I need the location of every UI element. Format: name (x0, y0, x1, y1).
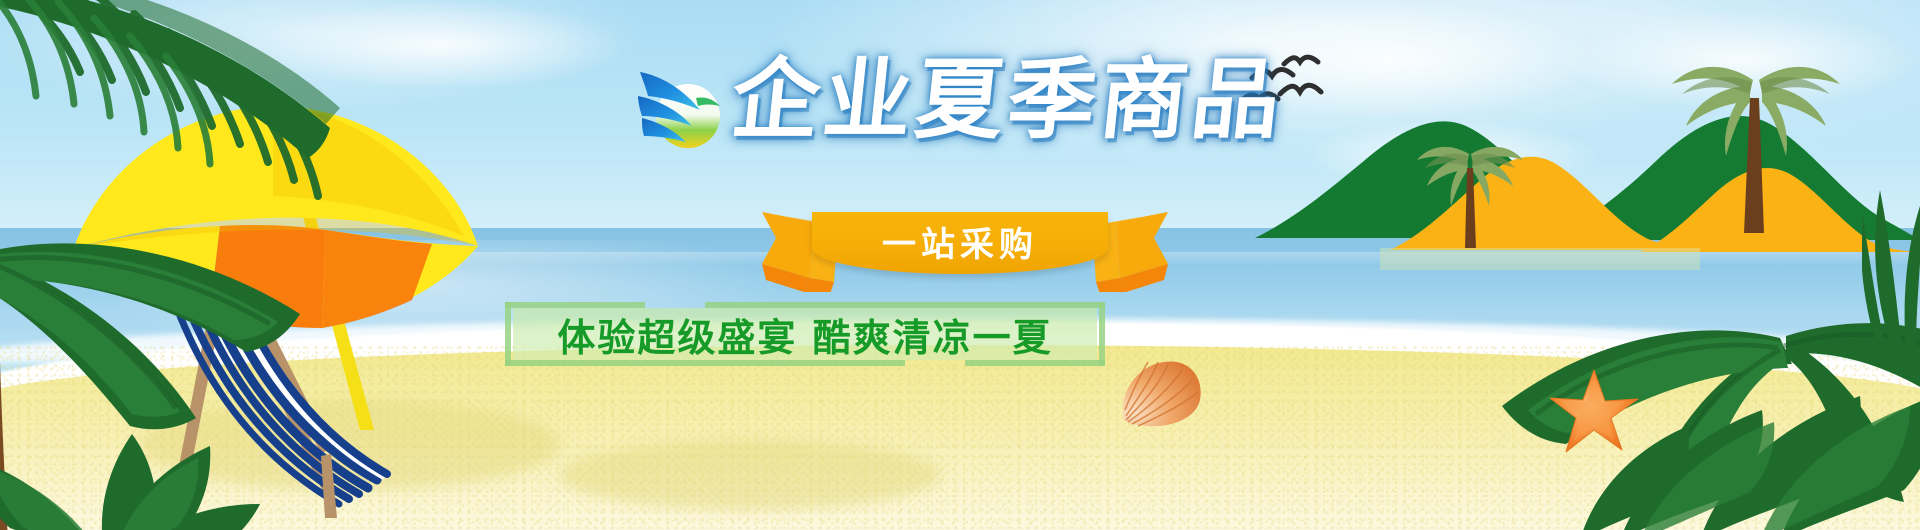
seashell-icon (1116, 358, 1204, 428)
ribbon-label: 一站采购 (882, 217, 1038, 270)
ribbon-badge[interactable]: 一站采购 (760, 206, 1160, 294)
flying-birds-flock (1240, 42, 1360, 120)
sand-shadow-patch (560, 440, 940, 510)
subtitle-text: 体验超级盛宴 酷爽清凉一夏 (505, 300, 1105, 368)
palm-tree-bottom-left (0, 400, 320, 530)
ribbon-band: 一站采购 (812, 212, 1108, 274)
grass-blades-right (1862, 150, 1920, 350)
subtitle-banner: 体验超级盛宴 酷爽清凉一夏 (505, 300, 1105, 368)
starfish-icon (1548, 368, 1640, 454)
summer-promo-banner: 企业夏季商品 一站采购 (0, 0, 1920, 530)
